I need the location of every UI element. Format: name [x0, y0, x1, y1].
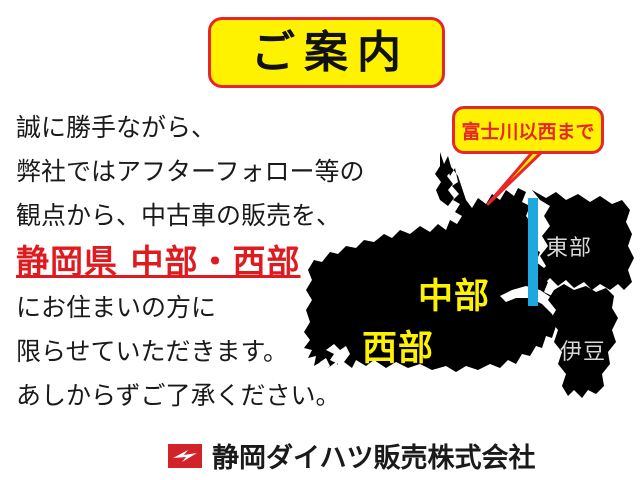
shizuoka-map: 中部 西部 東部 伊豆 [300, 150, 640, 410]
page-title: ご案内 [243, 31, 410, 75]
notice-poster: ご案内 誠に勝手ながら、 弊社ではアフターフォロー等の 観点から、中古車の販売を… [0, 0, 640, 480]
map-label-izu: 伊豆 [560, 342, 606, 364]
body-line-1: 誠に勝手ながら、 [16, 106, 366, 150]
fuji-river-boundary-line [528, 198, 538, 306]
callout-tail-icon [480, 146, 550, 208]
daihatsu-logo-icon [168, 444, 202, 468]
map-label-seibu: 西部 [362, 332, 434, 367]
callout-balloon: 富士川以西まで [452, 106, 604, 154]
company-name: 静岡ダイハツ販売株式会社 [212, 436, 535, 475]
callout-box: 富士川以西まで [452, 106, 604, 154]
footer: 静岡ダイハツ販売株式会社 [168, 436, 535, 475]
header-banner: ご案内 [208, 17, 445, 88]
map-label-chubu: 中部 [418, 280, 490, 315]
callout-label: 富士川以西まで [461, 117, 594, 144]
map-label-tohbu: 東部 [546, 238, 592, 260]
